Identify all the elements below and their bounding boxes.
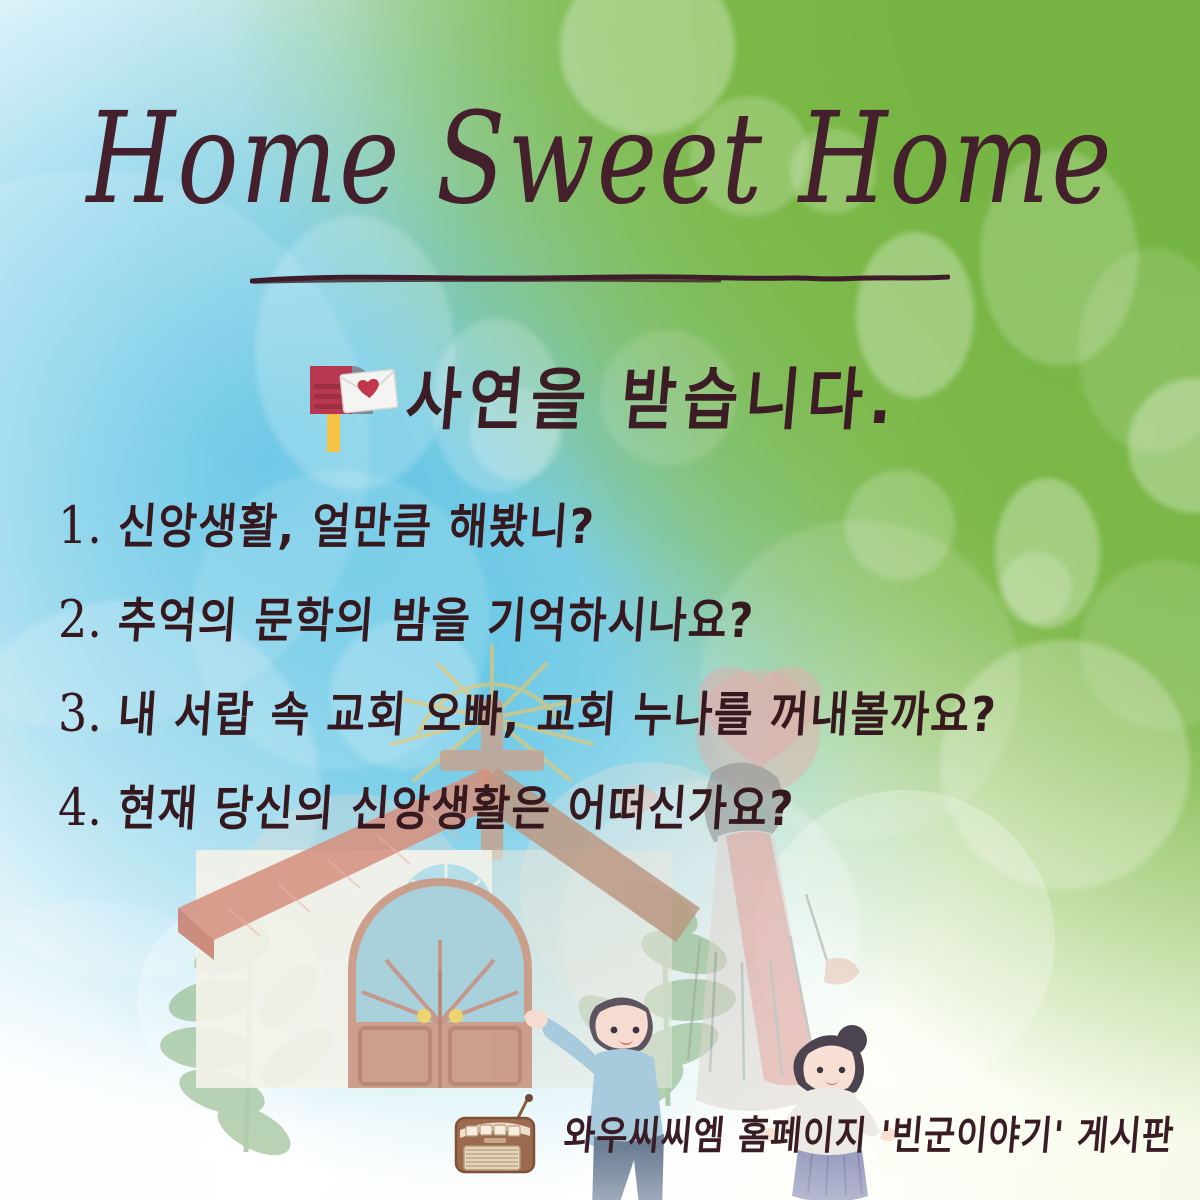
list-item: 1. 신앙생활, 얼만큼 해봤니? <box>58 498 1160 576</box>
question-number: 2. <box>58 589 102 649</box>
mailbox-with-heart-letter-icon <box>300 352 400 456</box>
poster-canvas: Home Sweet Home <box>0 0 1200 1200</box>
footer-text: 와우씨씨엠 홈페이지 '빈군이야기' 게시판 <box>562 1116 1176 1155</box>
subheading-text: 사연을 받습니다. <box>403 367 903 441</box>
subheading-row: 사연을 받습니다. <box>0 352 1200 456</box>
question-number: 1. <box>58 495 102 555</box>
page-title: Home Sweet Home <box>12 92 1188 225</box>
list-item: 2. 추억의 문학의 밤을 기억하시나요? <box>58 592 1160 670</box>
divider <box>0 272 1200 286</box>
question-list: 1. 신앙생활, 얼만큼 해봤니? 2. 추억의 문학의 밤을 기억하시나요? … <box>58 498 1160 874</box>
hand-drawn-rule-icon <box>250 272 950 286</box>
question-text: 현재 당신의 신앙생활은 어떠신가요? <box>116 785 796 833</box>
question-text: 추억의 문학의 밤을 기억하시나요? <box>116 597 756 645</box>
list-item: 4. 현재 당신의 신앙생활은 어떠신가요? <box>58 780 1160 858</box>
question-text: 신앙생활, 얼만큼 해봤니? <box>116 503 596 551</box>
footer-row: 와우씨씨엠 홈페이지 '빈군이야기' 게시판 <box>0 1094 1200 1178</box>
list-item: 3. 내 서랍 속 교회 오빠, 교회 누나를 꺼내볼까요? <box>58 686 1160 764</box>
question-number: 4. <box>58 777 102 837</box>
question-text: 내 서랍 속 교회 오빠, 교회 누나를 꺼내볼까요? <box>116 691 998 739</box>
question-number: 3. <box>58 683 102 743</box>
poster-content: Home Sweet Home <box>0 0 1200 1200</box>
vintage-radio-icon <box>446 1094 550 1178</box>
